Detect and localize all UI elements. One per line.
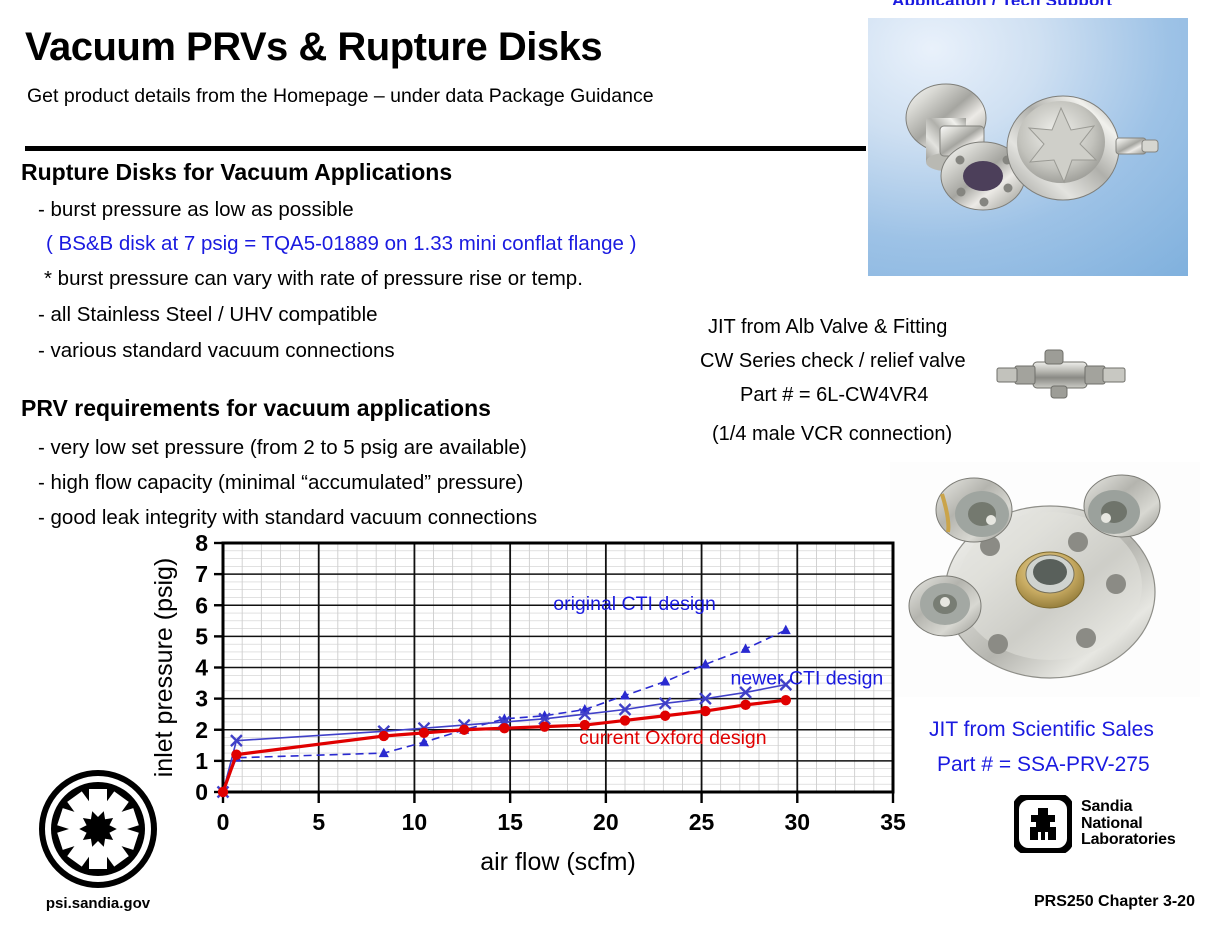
y-tick-label: 1 — [195, 748, 208, 774]
slide-root: Application / Tech Support Vacuum PRVs &… — [0, 0, 1214, 920]
x-tick-label: 0 — [217, 809, 230, 835]
section-2-heading: PRV requirements for vacuum applications — [21, 395, 491, 422]
chart-annotation: current Oxford design — [579, 727, 767, 749]
y-tick-label: 3 — [195, 686, 208, 712]
section-2-bullet-0: - very low set pressure (from 2 to 5 psi… — [38, 436, 527, 460]
data-point — [419, 728, 429, 738]
jit-scientific-line-2: Part # = SSA-PRV-275 — [937, 753, 1150, 777]
chart-xlabel: air flow (scfm) — [480, 848, 636, 876]
x-tick-label: 25 — [689, 809, 715, 835]
jit-alb-line-3: Part # = 6L-CW4VR4 — [740, 384, 928, 407]
psi-circular-arrows-icon — [39, 770, 157, 888]
rupture-disks-photo-graphic — [868, 18, 1188, 276]
section-1-bullet-2: * burst pressure can vary with rate of p… — [44, 267, 583, 291]
rupture-disks-photo — [868, 18, 1188, 276]
data-point — [781, 695, 791, 705]
section-1-bullet-3: - all Stainless Steel / UHV compatible — [38, 303, 378, 327]
x-tick-label: 35 — [880, 809, 906, 835]
chart-annotation: original CTI design — [553, 593, 716, 615]
section-2-bullet-1: - high flow capacity (minimal “accumulat… — [38, 471, 523, 495]
y-tick-label: 8 — [195, 530, 208, 556]
y-tick-label: 4 — [195, 655, 208, 681]
jit-alb-line-1: JIT from Alb Valve & Fitting — [708, 316, 947, 339]
chart-annotation: newer CTI design — [730, 668, 883, 690]
page-subtitle: Get product details from the Homepage – … — [27, 85, 654, 108]
data-point — [231, 749, 241, 759]
title-divider — [25, 146, 866, 151]
x-tick-label: 10 — [402, 809, 428, 835]
sandia-line-1: Sandia — [1081, 799, 1176, 816]
psi-logo-caption: psi.sandia.gov — [28, 895, 168, 912]
footer-chapter-note: PRS250 Chapter 3-20 — [1034, 893, 1195, 911]
sandia-logo-wordmark: Sandia National Laboratories — [1081, 799, 1176, 849]
data-point — [499, 723, 509, 733]
sandia-line-2: National — [1081, 816, 1176, 833]
section-1-heading: Rupture Disks for Vacuum Applications — [21, 159, 452, 186]
chart-ylabel: inlet pressure (psig) — [150, 558, 178, 778]
section-1-bullet-0: - burst pressure as low as possible — [38, 198, 354, 222]
jit-alb-line-2: CW Series check / relief valve — [700, 350, 966, 373]
data-point — [218, 787, 228, 797]
data-point — [740, 700, 750, 710]
x-tick-label: 15 — [497, 809, 523, 835]
y-tick-label: 5 — [195, 623, 208, 649]
jit-scientific-line-1: JIT from Scientific Sales — [929, 718, 1154, 742]
section-1-bullet-4: - various standard vacuum connections — [38, 339, 395, 363]
section-1-bullet-1: ( BS&B disk at 7 psig = TQA5-01889 on 1.… — [46, 232, 636, 256]
check-valve-photo — [985, 340, 1135, 408]
y-tick-label: 0 — [195, 779, 208, 805]
data-point — [379, 731, 389, 741]
x-tick-label: 5 — [312, 809, 325, 835]
y-tick-label: 2 — [195, 717, 208, 743]
data-point — [539, 721, 549, 731]
y-tick-label: 6 — [195, 592, 208, 618]
sandia-line-3: Laboratories — [1081, 832, 1176, 849]
y-tick-label: 7 — [195, 561, 208, 587]
check-valve-photo-graphic — [985, 340, 1135, 408]
x-tick-label: 20 — [593, 809, 619, 835]
data-point — [700, 706, 710, 716]
data-point — [620, 715, 630, 725]
sandia-thunderbird-icon — [1014, 795, 1072, 853]
sandia-logo-block: Sandia National Laboratories — [1014, 795, 1176, 853]
page-title: Vacuum PRVs & Rupture Disks — [25, 27, 602, 67]
top-cut-header-text: Application / Tech Support — [892, 0, 1212, 5]
x-tick-label: 30 — [784, 809, 810, 835]
data-point — [459, 725, 469, 735]
psi-logo-block: psi.sandia.gov — [28, 770, 168, 912]
jit-alb-line-4: (1/4 male VCR connection) — [712, 423, 952, 446]
data-point — [660, 711, 670, 721]
